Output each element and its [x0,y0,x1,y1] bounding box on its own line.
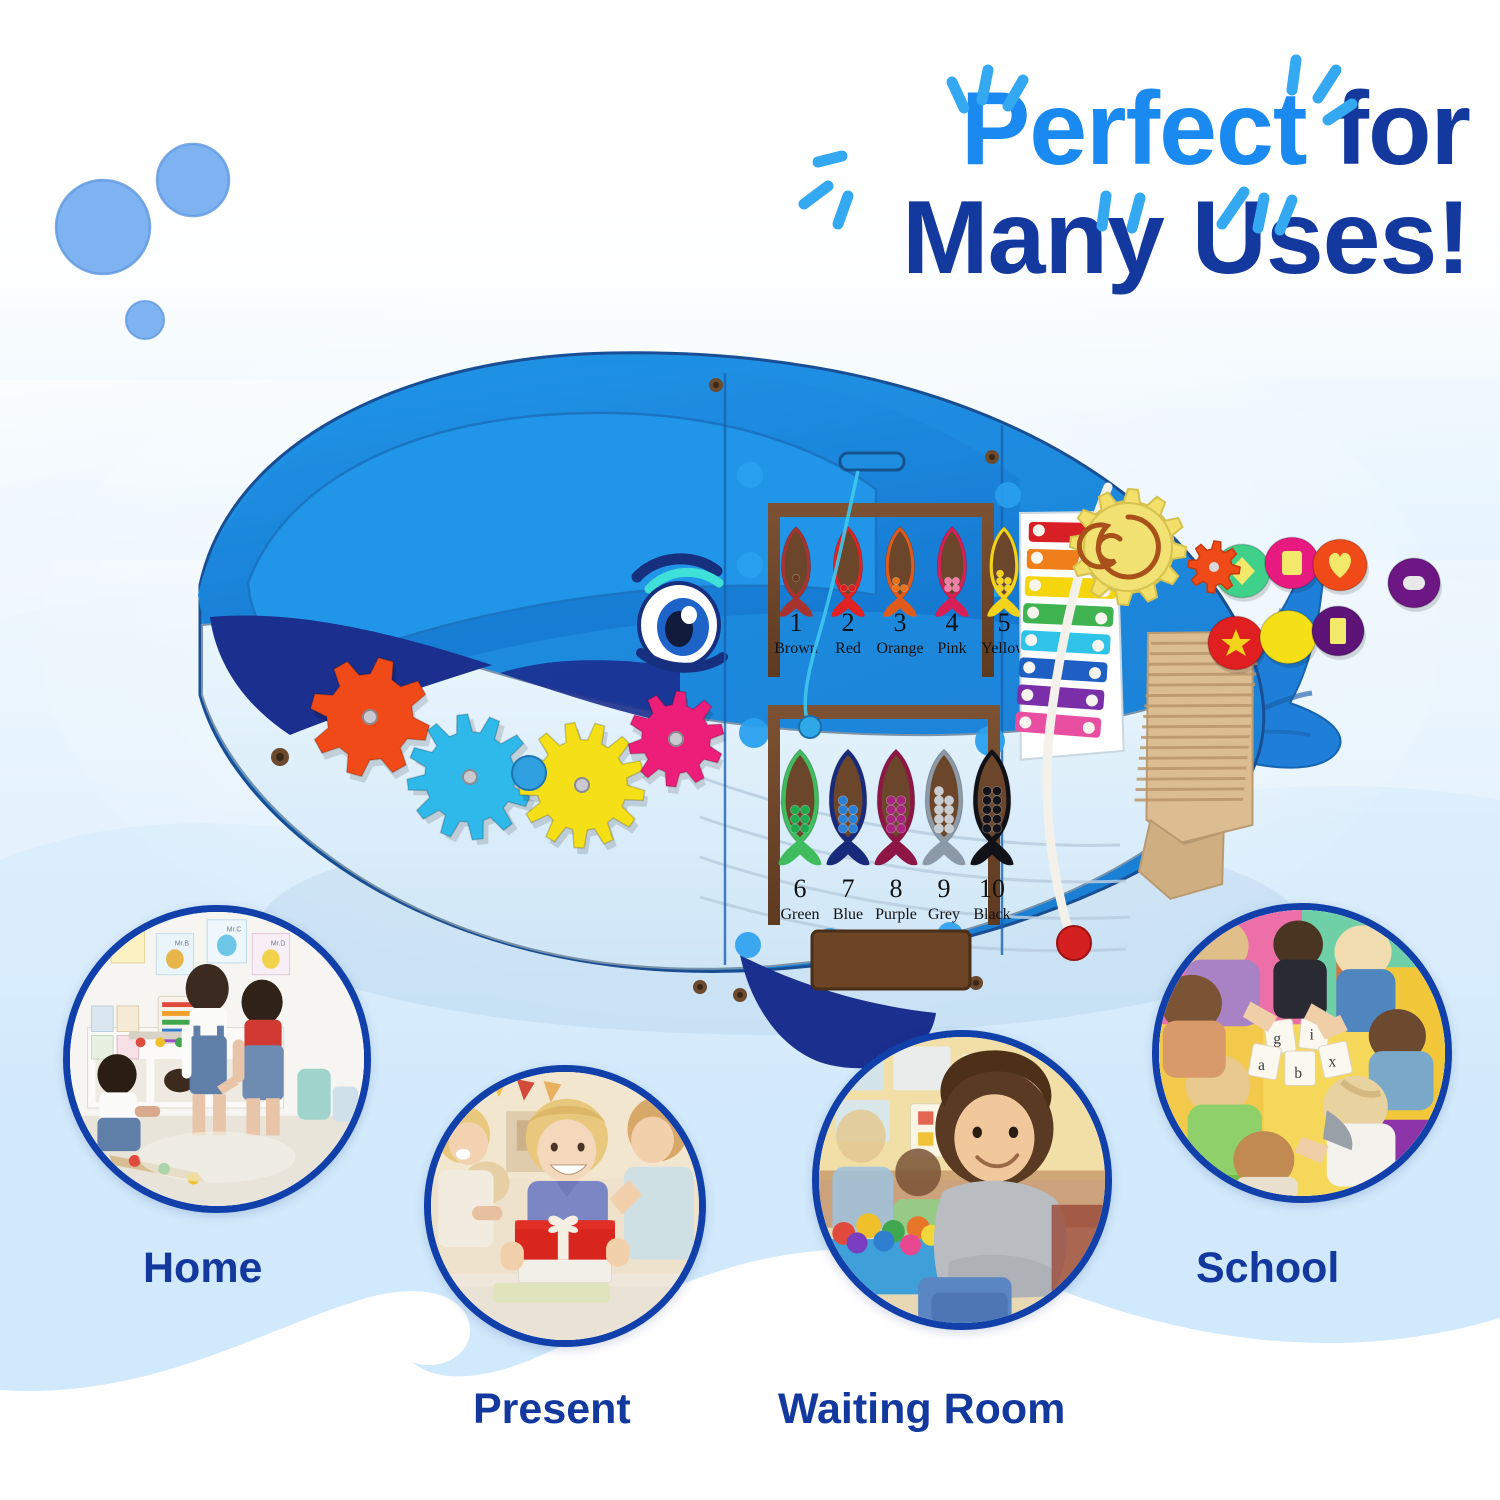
fish-color-name: Green [780,906,819,923]
home-scene-photo: Mr.B Mr.C Mr.D [70,912,364,1206]
fish-color-name: Orange [876,640,923,657]
svg-text:x: x [1329,1053,1337,1070]
sparkle-decorations [840,64,1490,294]
magnet-bob [799,716,821,738]
svg-text:Mr.D: Mr.D [271,940,286,947]
fish-color-name: Pink [937,640,966,657]
fish-number: 3 [894,608,907,637]
fish-number: 4 [946,608,959,637]
fish-number: 9 [938,874,951,903]
fish-color-name: Red [835,640,861,657]
fish-number: 5 [998,608,1011,637]
use-case-circle-home[interactable]: Mr.B Mr.C Mr.D [63,905,371,1213]
present-scene-photo [431,1072,699,1340]
fish-number: 7 [842,874,855,903]
carry-handle [840,453,904,470]
waiting-room-scene-photo [819,1037,1105,1323]
fish-color-name: Brown [774,640,818,657]
fish-number: 6 [794,874,807,903]
fish-color-name: Blue [833,906,863,923]
svg-text:b: b [1294,1065,1302,1082]
use-case-circle-school[interactable]: g i a b x [1152,903,1452,1203]
svg-text:Mr.B: Mr.B [175,940,190,947]
caption-waiting-room: Waiting Room [778,1385,1065,1434]
svg-text:Mr.C: Mr.C [227,927,242,934]
fish-number: 1 [790,608,803,637]
product-marketing-image: Perfect for Many Uses! [0,0,1500,1500]
fish-color-name: Purple [875,906,917,923]
fish-color-name: Black [973,906,1010,923]
caption-present: Present [473,1385,631,1434]
fish-number: 2 [842,608,855,637]
shape-button-rectangle[interactable] [1312,606,1366,660]
counting-panel-top: 1Brown2Red3Orange4Pink5Yellow [754,491,1027,677]
caption-school: School [1196,1244,1339,1293]
fish-number: 8 [890,874,903,903]
use-case-circle-present[interactable] [424,1065,706,1347]
gear-orange-tail [1188,541,1240,593]
headline-block: Perfect for Many Uses! [760,78,1470,290]
caption-home: Home [143,1244,262,1293]
tail-gear-teeth[interactable] [1188,541,1240,593]
svg-text:i: i [1310,1027,1314,1044]
svg-text:g: g [1273,1030,1281,1047]
school-scene-photo: g i a b x [1159,910,1445,1196]
fish-color-name: Grey [928,906,960,923]
fish-number: 10 [979,874,1005,903]
use-case-circle-waiting-room[interactable] [812,1030,1112,1330]
svg-text:a: a [1258,1057,1265,1074]
